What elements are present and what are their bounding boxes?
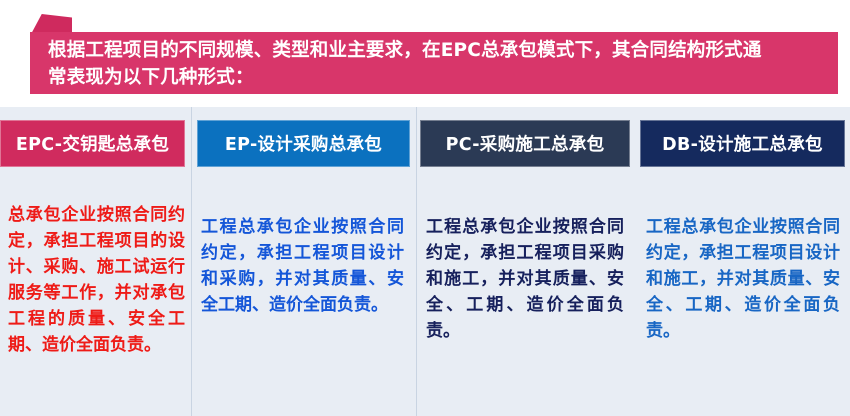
banner-line-1: 根据工程项目的不同规模、类型和业主要求，在EPC总承包模式下，其合同结构形式通 (48, 37, 824, 64)
column-pc: PC-采购施工总承包 工程总承包企业按照合同约定，承担工程项目采购和施工，并对其… (416, 107, 636, 416)
slide-root: 根据工程项目的不同规模、类型和业主要求，在EPC总承包模式下，其合同结构形式通 … (0, 0, 850, 416)
column-header-label-epc: EPC-交钥匙总承包 (16, 131, 169, 156)
column-header-ep[interactable]: EP-设计采购总承包 (197, 120, 410, 167)
header-banner: 根据工程项目的不同规模、类型和业主要求，在EPC总承包模式下，其合同结构形式通 … (30, 14, 838, 94)
comparison-columns: EPC-交钥匙总承包 总承包企业按照合同约定，承担工程项目的设计、采购、施工试运… (0, 107, 850, 416)
column-header-label-db: DB-设计施工总承包 (662, 131, 823, 156)
column-epc: EPC-交钥匙总承包 总承包企业按照合同约定，承担工程项目的设计、采购、施工试运… (0, 107, 191, 416)
column-body-ep: 工程总承包企业按照合同约定，承担工程项目设计和采购，并对其质量、安全工期、造价全… (191, 167, 416, 416)
column-db: DB-设计施工总承包 工程总承包企业按照合同约定，承担工程项目设计和施工，并对其… (636, 107, 850, 416)
column-body-epc: 总承包企业按照合同约定，承担工程项目的设计、采购、施工试运行服务等工作，并对承包… (0, 167, 191, 416)
column-header-pc[interactable]: PC-采购施工总承包 (420, 120, 630, 167)
banner-line-2: 常表现为以下几种形式： (48, 64, 824, 91)
column-header-label-pc: PC-采购施工总承包 (446, 131, 605, 156)
column-body-pc: 工程总承包企业按照合同约定，承担工程项目采购和施工，并对其质量、安全、工期、造价… (416, 167, 636, 416)
column-ep: EP-设计采购总承包 工程总承包企业按照合同约定，承担工程项目设计和采购，并对其… (191, 107, 416, 416)
column-header-db[interactable]: DB-设计施工总承包 (640, 120, 845, 167)
column-header-epc[interactable]: EPC-交钥匙总承包 (0, 120, 185, 167)
banner-body: 根据工程项目的不同规模、类型和业主要求，在EPC总承包模式下，其合同结构形式通 … (30, 32, 838, 94)
column-body-db: 工程总承包企业按照合同约定，承担工程项目设计和施工，并对其质量、安全、工期、造价… (636, 167, 850, 416)
column-header-label-ep: EP-设计采购总承包 (225, 131, 382, 156)
